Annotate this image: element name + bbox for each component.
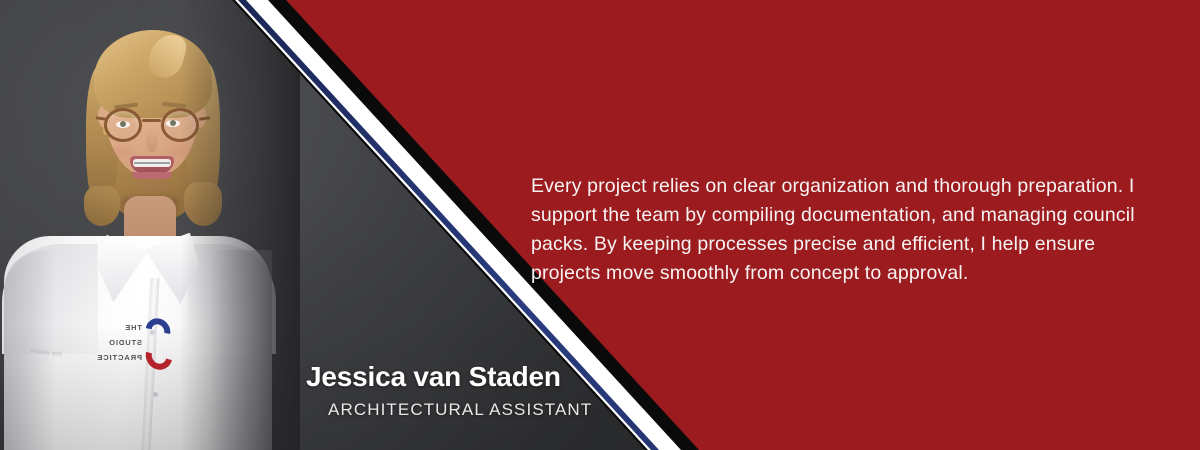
person-role: ARCHITECTURAL ASSISTANT (328, 400, 636, 420)
shirt-logo-line-2: STUDIO (98, 335, 142, 350)
shirt-logo: THE STUDIO PRACTICE (98, 312, 176, 378)
braces (134, 162, 170, 164)
lens-right (161, 108, 199, 142)
shirt-logo-line-1: THE (98, 320, 142, 335)
bio-text: Every project relies on clear organizati… (531, 172, 1151, 288)
shirt-logo-text: THE STUDIO PRACTICE (98, 320, 142, 365)
cheek-right (168, 145, 188, 157)
hair-tip-right (184, 182, 222, 226)
shirt-shading-right (210, 250, 272, 450)
profile-photo: THE STUDIO PRACTICE the studio (0, 0, 300, 450)
mouth (130, 156, 174, 173)
shirt-button-lower (153, 392, 158, 397)
cheek-left (112, 146, 132, 158)
lens-left (104, 108, 142, 142)
hair-tip-left (84, 186, 120, 226)
name-block: Jessica van Staden ARCHITECTURAL ASSISTA… (306, 362, 636, 420)
person-name: Jessica van Staden (306, 362, 636, 393)
studio-s-monogram-icon (144, 318, 174, 372)
bio-block: Every project relies on clear organizati… (531, 172, 1151, 288)
person-figure: THE STUDIO PRACTICE the studio (0, 0, 300, 450)
nose (146, 130, 158, 152)
lower-lip (132, 172, 172, 179)
chin-shadow (134, 182, 170, 190)
team-member-banner: THE STUDIO PRACTICE the studio (0, 0, 1200, 450)
monogram-arc-red (141, 337, 178, 374)
shirt-logo-line-3: PRACTICE (98, 350, 142, 365)
glasses-bridge (142, 119, 161, 122)
